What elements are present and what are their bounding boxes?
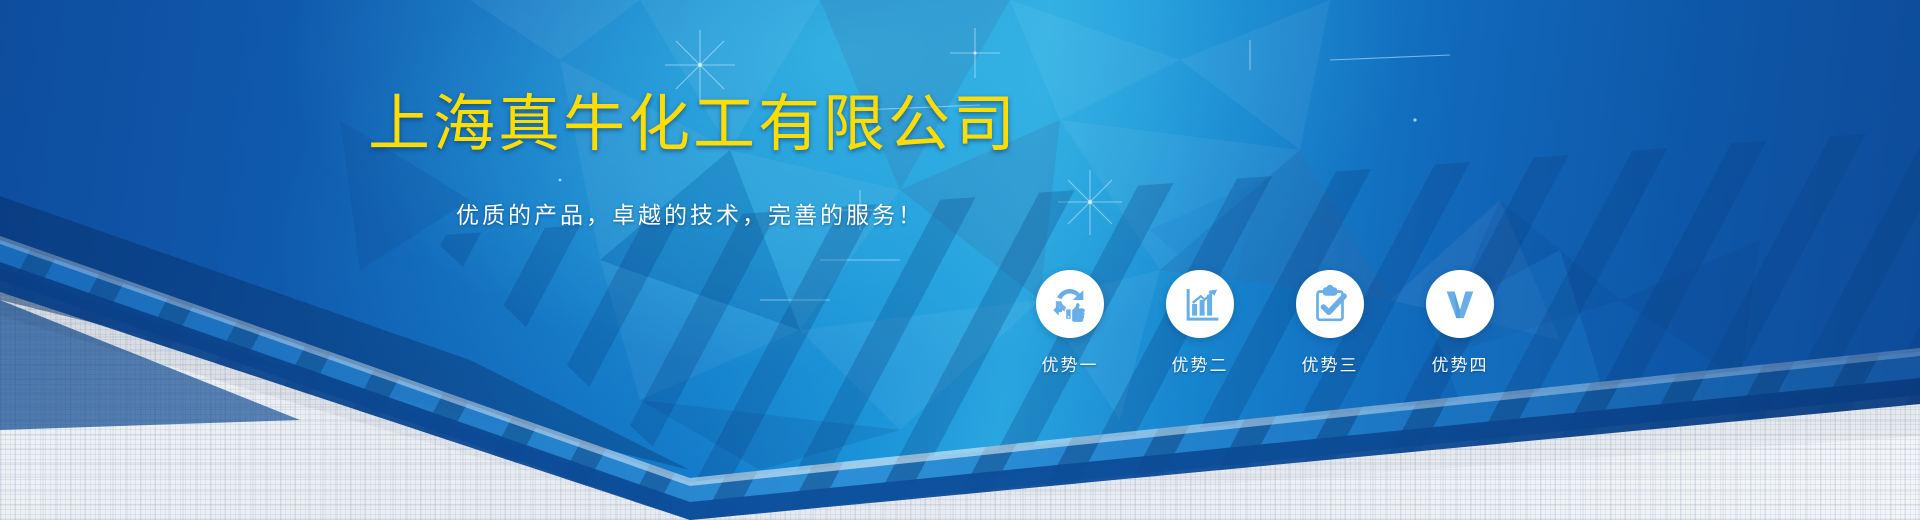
clipboard-check-icon — [1310, 284, 1350, 324]
advantage-icon-circle-4[interactable] — [1426, 270, 1494, 338]
company-hero-banner: 上海真牛化工有限公司 优质的产品，卓越的技术，完善的服务！ — [0, 0, 1920, 520]
advantage-icon-circle-3[interactable] — [1296, 270, 1364, 338]
advantage-icon-circle-1[interactable] — [1036, 270, 1104, 338]
advantages-list: 优势一 优势二 — [1026, 270, 1504, 376]
advantage-item-1[interactable]: 优势一 — [1026, 270, 1114, 376]
company-title: 上海真牛化工有限公司 — [368, 88, 1018, 161]
refresh-thumbs-up-icon — [1050, 284, 1090, 324]
advantage-item-2[interactable]: 优势二 — [1156, 270, 1244, 376]
blue-chevron-graphic — [0, 0, 1920, 520]
advantage-item-3[interactable]: 优势三 — [1286, 270, 1374, 376]
bar-chart-growth-icon — [1180, 284, 1220, 324]
advantage-label-2: 优势二 — [1172, 351, 1229, 376]
advantage-label-3: 优势三 — [1302, 351, 1359, 376]
advantage-icon-circle-2[interactable] — [1166, 270, 1234, 338]
company-slogan: 优质的产品，卓越的技术，完善的服务！ — [456, 196, 924, 230]
v-check-icon — [1440, 284, 1480, 324]
advantage-label-1: 优势一 — [1042, 351, 1099, 376]
advantage-label-4: 优势四 — [1432, 351, 1489, 376]
advantage-item-4[interactable]: 优势四 — [1416, 270, 1504, 376]
